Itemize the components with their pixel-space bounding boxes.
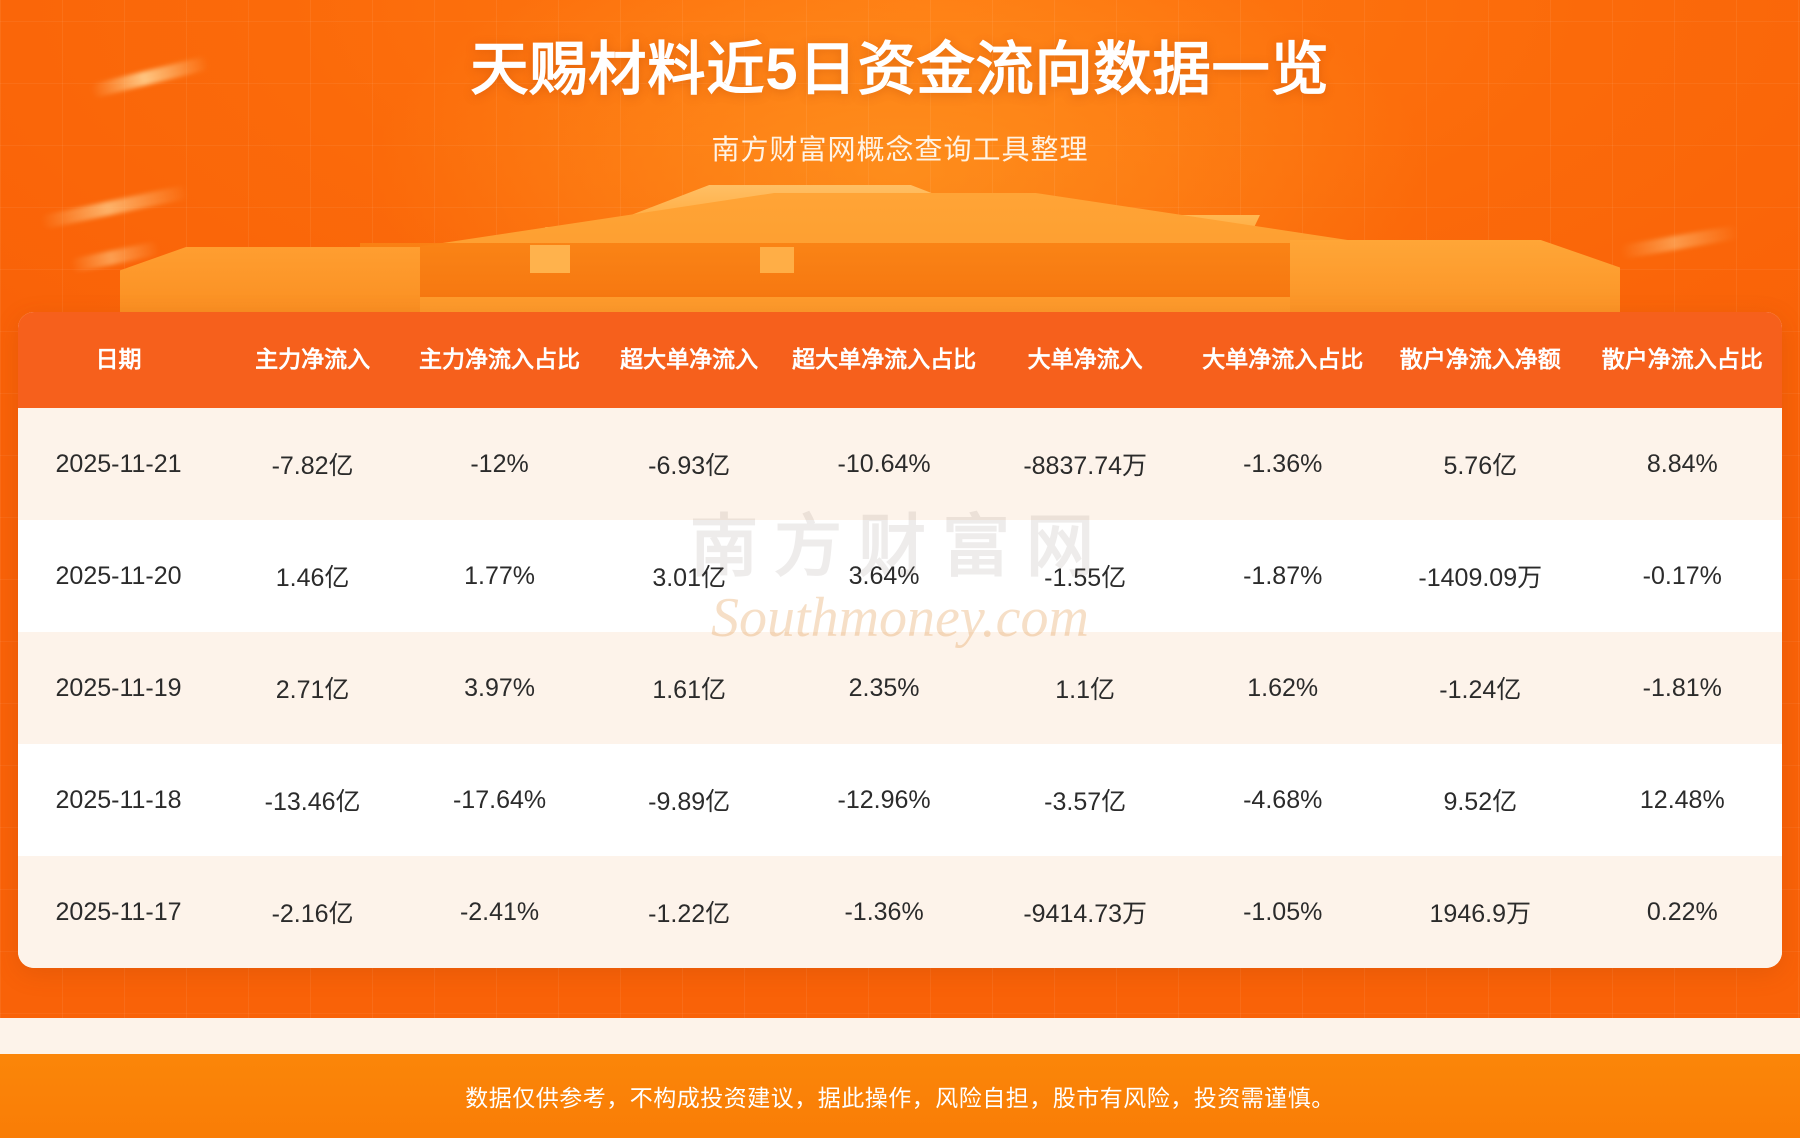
cell-lg-pct: -1.87%: [1187, 520, 1378, 632]
column-header-lg-pct: 大单净流入占比: [1187, 312, 1378, 408]
cell-xl-net: -9.89亿: [593, 744, 785, 856]
cell-lg-net: -9414.73万: [983, 856, 1188, 968]
cell-retail-net: -1409.09万: [1378, 520, 1583, 632]
fund-flow-table: 日期 主力净流入 主力净流入占比 超大单净流入 超大单净流入占比 大单净流入 大…: [18, 312, 1782, 968]
fund-flow-table-card: 日期 主力净流入 主力净流入占比 超大单净流入 超大单净流入占比 大单净流入 大…: [18, 312, 1782, 968]
cell-lg-net: -3.57亿: [983, 744, 1188, 856]
podium-small-block: [530, 245, 570, 273]
cell-retail-pct: 8.84%: [1583, 408, 1782, 520]
page-subtitle: 南方财富网概念查询工具整理: [0, 128, 1800, 168]
cell-xl-net: -1.22亿: [593, 856, 785, 968]
cell-main-net: 2.71亿: [219, 632, 406, 744]
card-bottom-strip: [0, 1018, 1800, 1054]
column-header-main-pct: 主力净流入占比: [406, 312, 593, 408]
cell-date: 2025-11-17: [18, 856, 219, 968]
table-row: 2025-11-19 2.71亿 3.97% 1.61亿 2.35% 1.1亿 …: [18, 632, 1782, 744]
column-header-date: 日期: [18, 312, 219, 408]
cell-main-pct: -2.41%: [406, 856, 593, 968]
cell-date: 2025-11-19: [18, 632, 219, 744]
cell-xl-net: -6.93亿: [593, 408, 785, 520]
cell-retail-net: 1946.9万: [1378, 856, 1583, 968]
cell-retail-pct: -0.17%: [1583, 520, 1782, 632]
column-header-main-net: 主力净流入: [219, 312, 406, 408]
cell-date: 2025-11-20: [18, 520, 219, 632]
cell-xl-pct: -12.96%: [785, 744, 983, 856]
cell-xl-pct: 2.35%: [785, 632, 983, 744]
cell-xl-pct: -10.64%: [785, 408, 983, 520]
header: 天赐材料近5日资金流向数据一览 南方财富网概念查询工具整理: [0, 38, 1800, 168]
cell-main-pct: -17.64%: [406, 744, 593, 856]
cell-xl-pct: -1.36%: [785, 856, 983, 968]
cell-retail-pct: -1.81%: [1583, 632, 1782, 744]
cell-retail-net: -1.24亿: [1378, 632, 1583, 744]
podium-small-block: [760, 247, 794, 273]
cell-retail-pct: 0.22%: [1583, 856, 1782, 968]
cell-lg-pct: -4.68%: [1187, 744, 1378, 856]
cell-lg-pct: -1.36%: [1187, 408, 1378, 520]
footer-disclaimer: 数据仅供参考，不构成投资建议，据此操作，风险自担，股市有风险，投资需谨慎。: [465, 1079, 1335, 1113]
table-row: 2025-11-21 -7.82亿 -12% -6.93亿 -10.64% -8…: [18, 408, 1782, 520]
cell-date: 2025-11-18: [18, 744, 219, 856]
cell-main-pct: 3.97%: [406, 632, 593, 744]
page-title: 天赐材料近5日资金流向数据一览: [0, 38, 1800, 102]
column-header-xl-pct: 超大单净流入占比: [785, 312, 983, 408]
cell-lg-net: 1.1亿: [983, 632, 1188, 744]
cell-retail-net: 5.76亿: [1378, 408, 1583, 520]
cell-main-net: -7.82亿: [219, 408, 406, 520]
table-row: 2025-11-20 1.46亿 1.77% 3.01亿 3.64% -1.55…: [18, 520, 1782, 632]
cell-xl-net: 3.01亿: [593, 520, 785, 632]
cell-lg-pct: 1.62%: [1187, 632, 1378, 744]
footer: 数据仅供参考，不构成投资建议，据此操作，风险自担，股市有风险，投资需谨慎。: [0, 1054, 1800, 1138]
cell-xl-net: 1.61亿: [593, 632, 785, 744]
column-header-retail-net: 散户净流入净额: [1378, 312, 1583, 408]
cell-xl-pct: 3.64%: [785, 520, 983, 632]
column-header-retail-pct: 散户净流入占比: [1583, 312, 1782, 408]
cell-main-pct: -12%: [406, 408, 593, 520]
cell-lg-net: -8837.74万: [983, 408, 1188, 520]
table-header-row: 日期 主力净流入 主力净流入占比 超大单净流入 超大单净流入占比 大单净流入 大…: [18, 312, 1782, 408]
cell-lg-pct: -1.05%: [1187, 856, 1378, 968]
cell-main-net: -13.46亿: [219, 744, 406, 856]
cell-retail-pct: 12.48%: [1583, 744, 1782, 856]
cell-main-net: -2.16亿: [219, 856, 406, 968]
column-header-xl-net: 超大单净流入: [593, 312, 785, 408]
table-row: 2025-11-18 -13.46亿 -17.64% -9.89亿 -12.96…: [18, 744, 1782, 856]
cell-retail-net: 9.52亿: [1378, 744, 1583, 856]
column-header-lg-net: 大单净流入: [983, 312, 1188, 408]
cell-main-net: 1.46亿: [219, 520, 406, 632]
cell-date: 2025-11-21: [18, 408, 219, 520]
table-row: 2025-11-17 -2.16亿 -2.41% -1.22亿 -1.36% -…: [18, 856, 1782, 968]
cell-main-pct: 1.77%: [406, 520, 593, 632]
cell-lg-net: -1.55亿: [983, 520, 1188, 632]
